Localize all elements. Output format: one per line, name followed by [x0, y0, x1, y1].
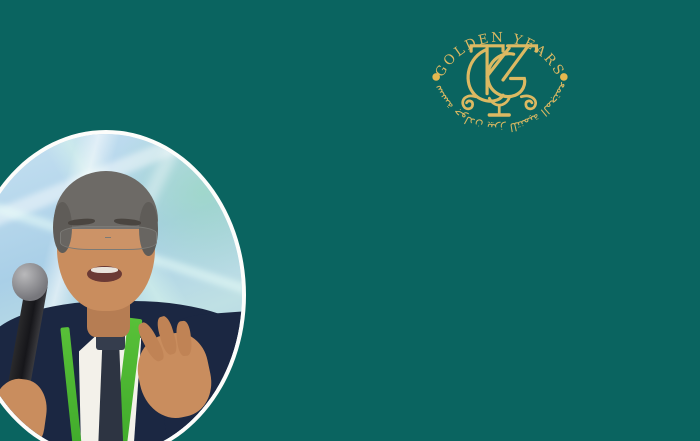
event-poster: GOLDEN YEARS مؤسسة جولدن ييرز للتنمية ال…: [0, 0, 700, 441]
title-block: [340, 288, 700, 290]
portrait-photo: [0, 134, 242, 441]
series-block: [340, 174, 700, 177]
content-column: GOLDEN YEARS مؤسسة جولدن ييرز للتنمية ال…: [340, 0, 700, 441]
golden-years-logo: GOLDEN YEARS مؤسسة جولدن ييرز للتنمية ال…: [424, 4, 576, 156]
speaker-figure: [0, 134, 242, 441]
microphone-head: [12, 263, 47, 302]
eyeglasses-icon: [60, 226, 157, 251]
logo-dot-right: [560, 73, 568, 81]
portrait-oval-frame: [0, 130, 246, 441]
logo-dot-left: [432, 73, 440, 81]
speaker-portrait: [0, 130, 246, 441]
speaker-name-block: [0, 18, 268, 20]
